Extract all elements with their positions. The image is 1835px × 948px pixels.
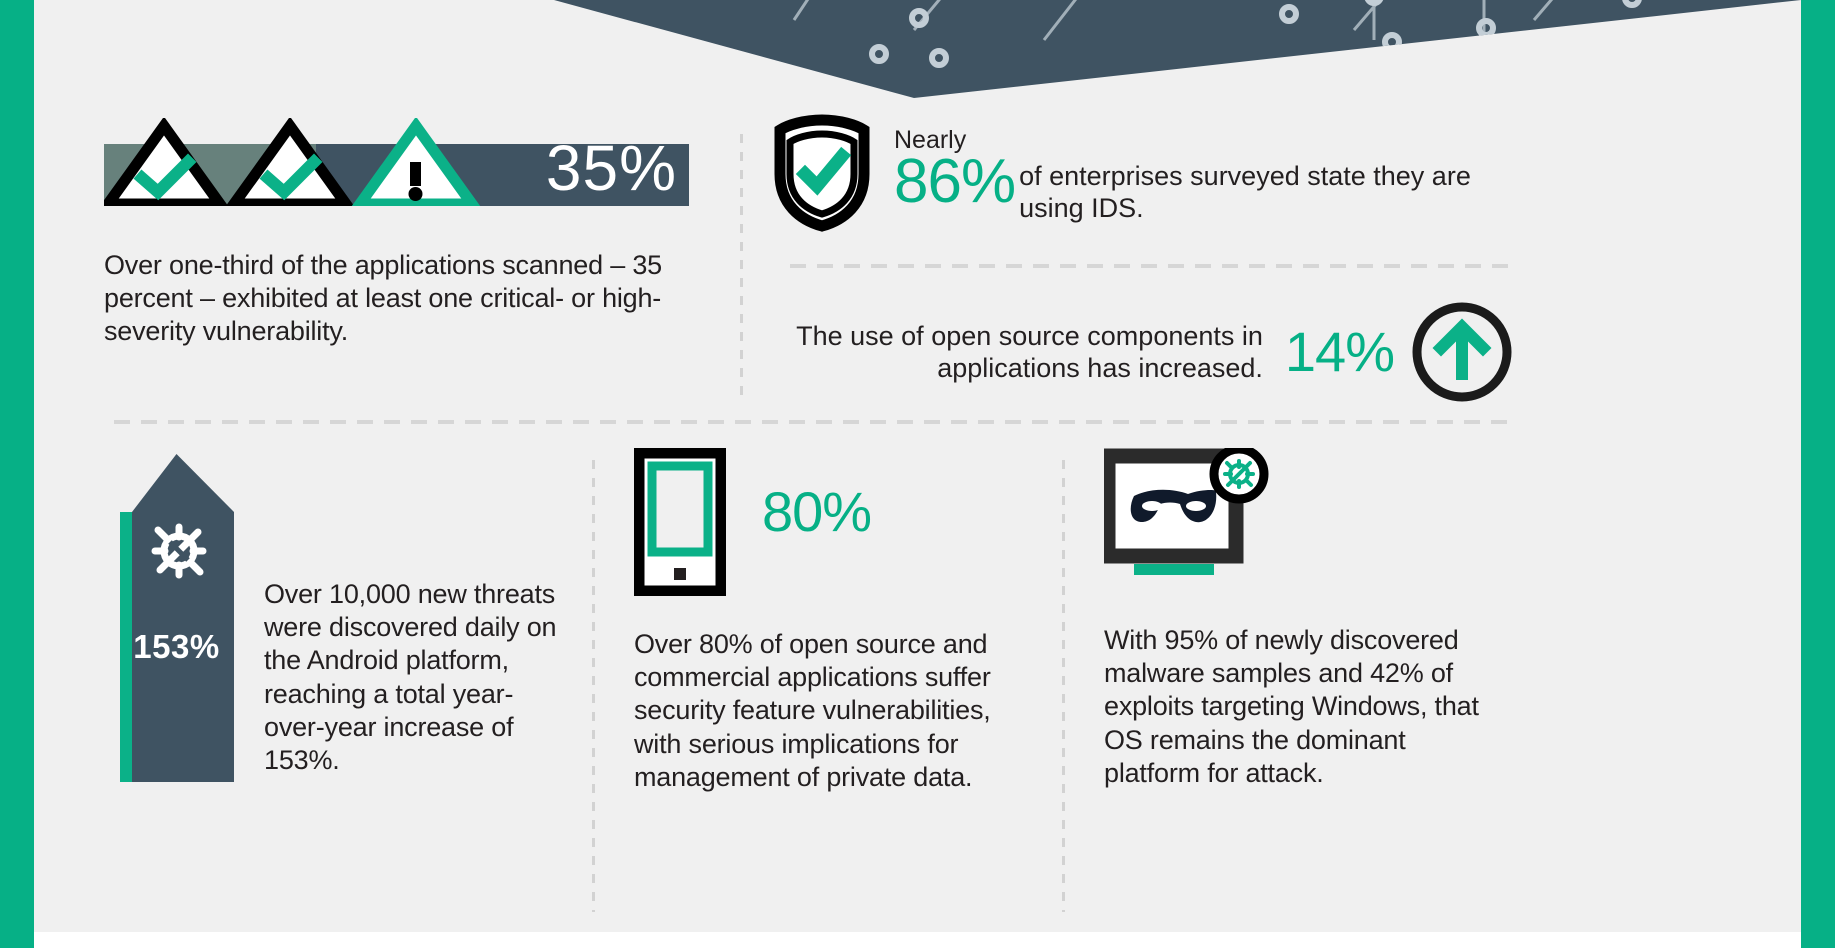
stat-value-35: 35% xyxy=(546,136,677,200)
infographic-page: 35% Over one-third of the applications s… xyxy=(0,0,1835,948)
stat-open-source-growth: The use of open source components in app… xyxy=(784,300,1514,404)
check-triangle-1 xyxy=(108,126,220,204)
warning-triangle xyxy=(360,126,472,204)
bug-icon xyxy=(148,520,210,582)
stat-value-80: 80% xyxy=(762,484,871,540)
arrow-up-circle-icon xyxy=(1410,300,1514,404)
left-accent-rail xyxy=(0,0,34,948)
stat-description-windows-malware: With 95% of newly discovered malware sam… xyxy=(1104,624,1492,790)
stat-open-source-vulns: 80% Over 80% of open source and commerci… xyxy=(634,448,1034,794)
stat-description-ids-usage: of enterprises surveyed state they are u… xyxy=(1019,155,1512,224)
triangle-bar-graphic: 35% xyxy=(104,118,689,206)
check-triangle-2 xyxy=(234,126,346,204)
footer-strip xyxy=(34,932,1801,948)
tablet-icon xyxy=(634,448,726,596)
infographic-canvas: 35% Over one-third of the applications s… xyxy=(34,0,1801,932)
stat-critical-vulnerability: 35% Over one-third of the applications s… xyxy=(104,118,704,349)
divider-horizontal-mid-right xyxy=(790,264,1512,268)
stat-description-critical-vulnerability: Over one-third of the applications scann… xyxy=(104,249,684,349)
shield-check-icon xyxy=(772,112,872,232)
right-accent-rail xyxy=(1801,0,1835,948)
stat-value-14: 14% xyxy=(1285,324,1394,380)
stat-windows-malware: With 95% of newly discovered malware sam… xyxy=(1104,448,1504,790)
stat-value-86: 86% xyxy=(894,155,1015,208)
stat-description-open-source-vulns: Over 80% of open source and commercial a… xyxy=(634,628,1022,794)
stat-description-open-source-growth: The use of open source components in app… xyxy=(784,320,1263,385)
bug-badge-icon xyxy=(1225,461,1253,487)
stat-value-153: 153% xyxy=(114,628,239,666)
divider-horizontal-main xyxy=(114,420,1514,424)
divider-vertical-top xyxy=(740,134,743,396)
monitor-bandit-mask-icon xyxy=(1104,448,1272,576)
stat-ids-usage: Nearly 86% of enterprises surveyed state… xyxy=(772,112,1512,232)
bottom-stats-row: 153% Over 10,000 new threats were discov… xyxy=(104,452,1761,922)
up-arrow-banner: 153% xyxy=(114,452,239,782)
header-circuit-graphic xyxy=(34,0,1801,98)
stat-android-threats: 153% xyxy=(114,452,264,782)
stat-description-android-threats: Over 10,000 new threats were discovered … xyxy=(264,578,559,777)
